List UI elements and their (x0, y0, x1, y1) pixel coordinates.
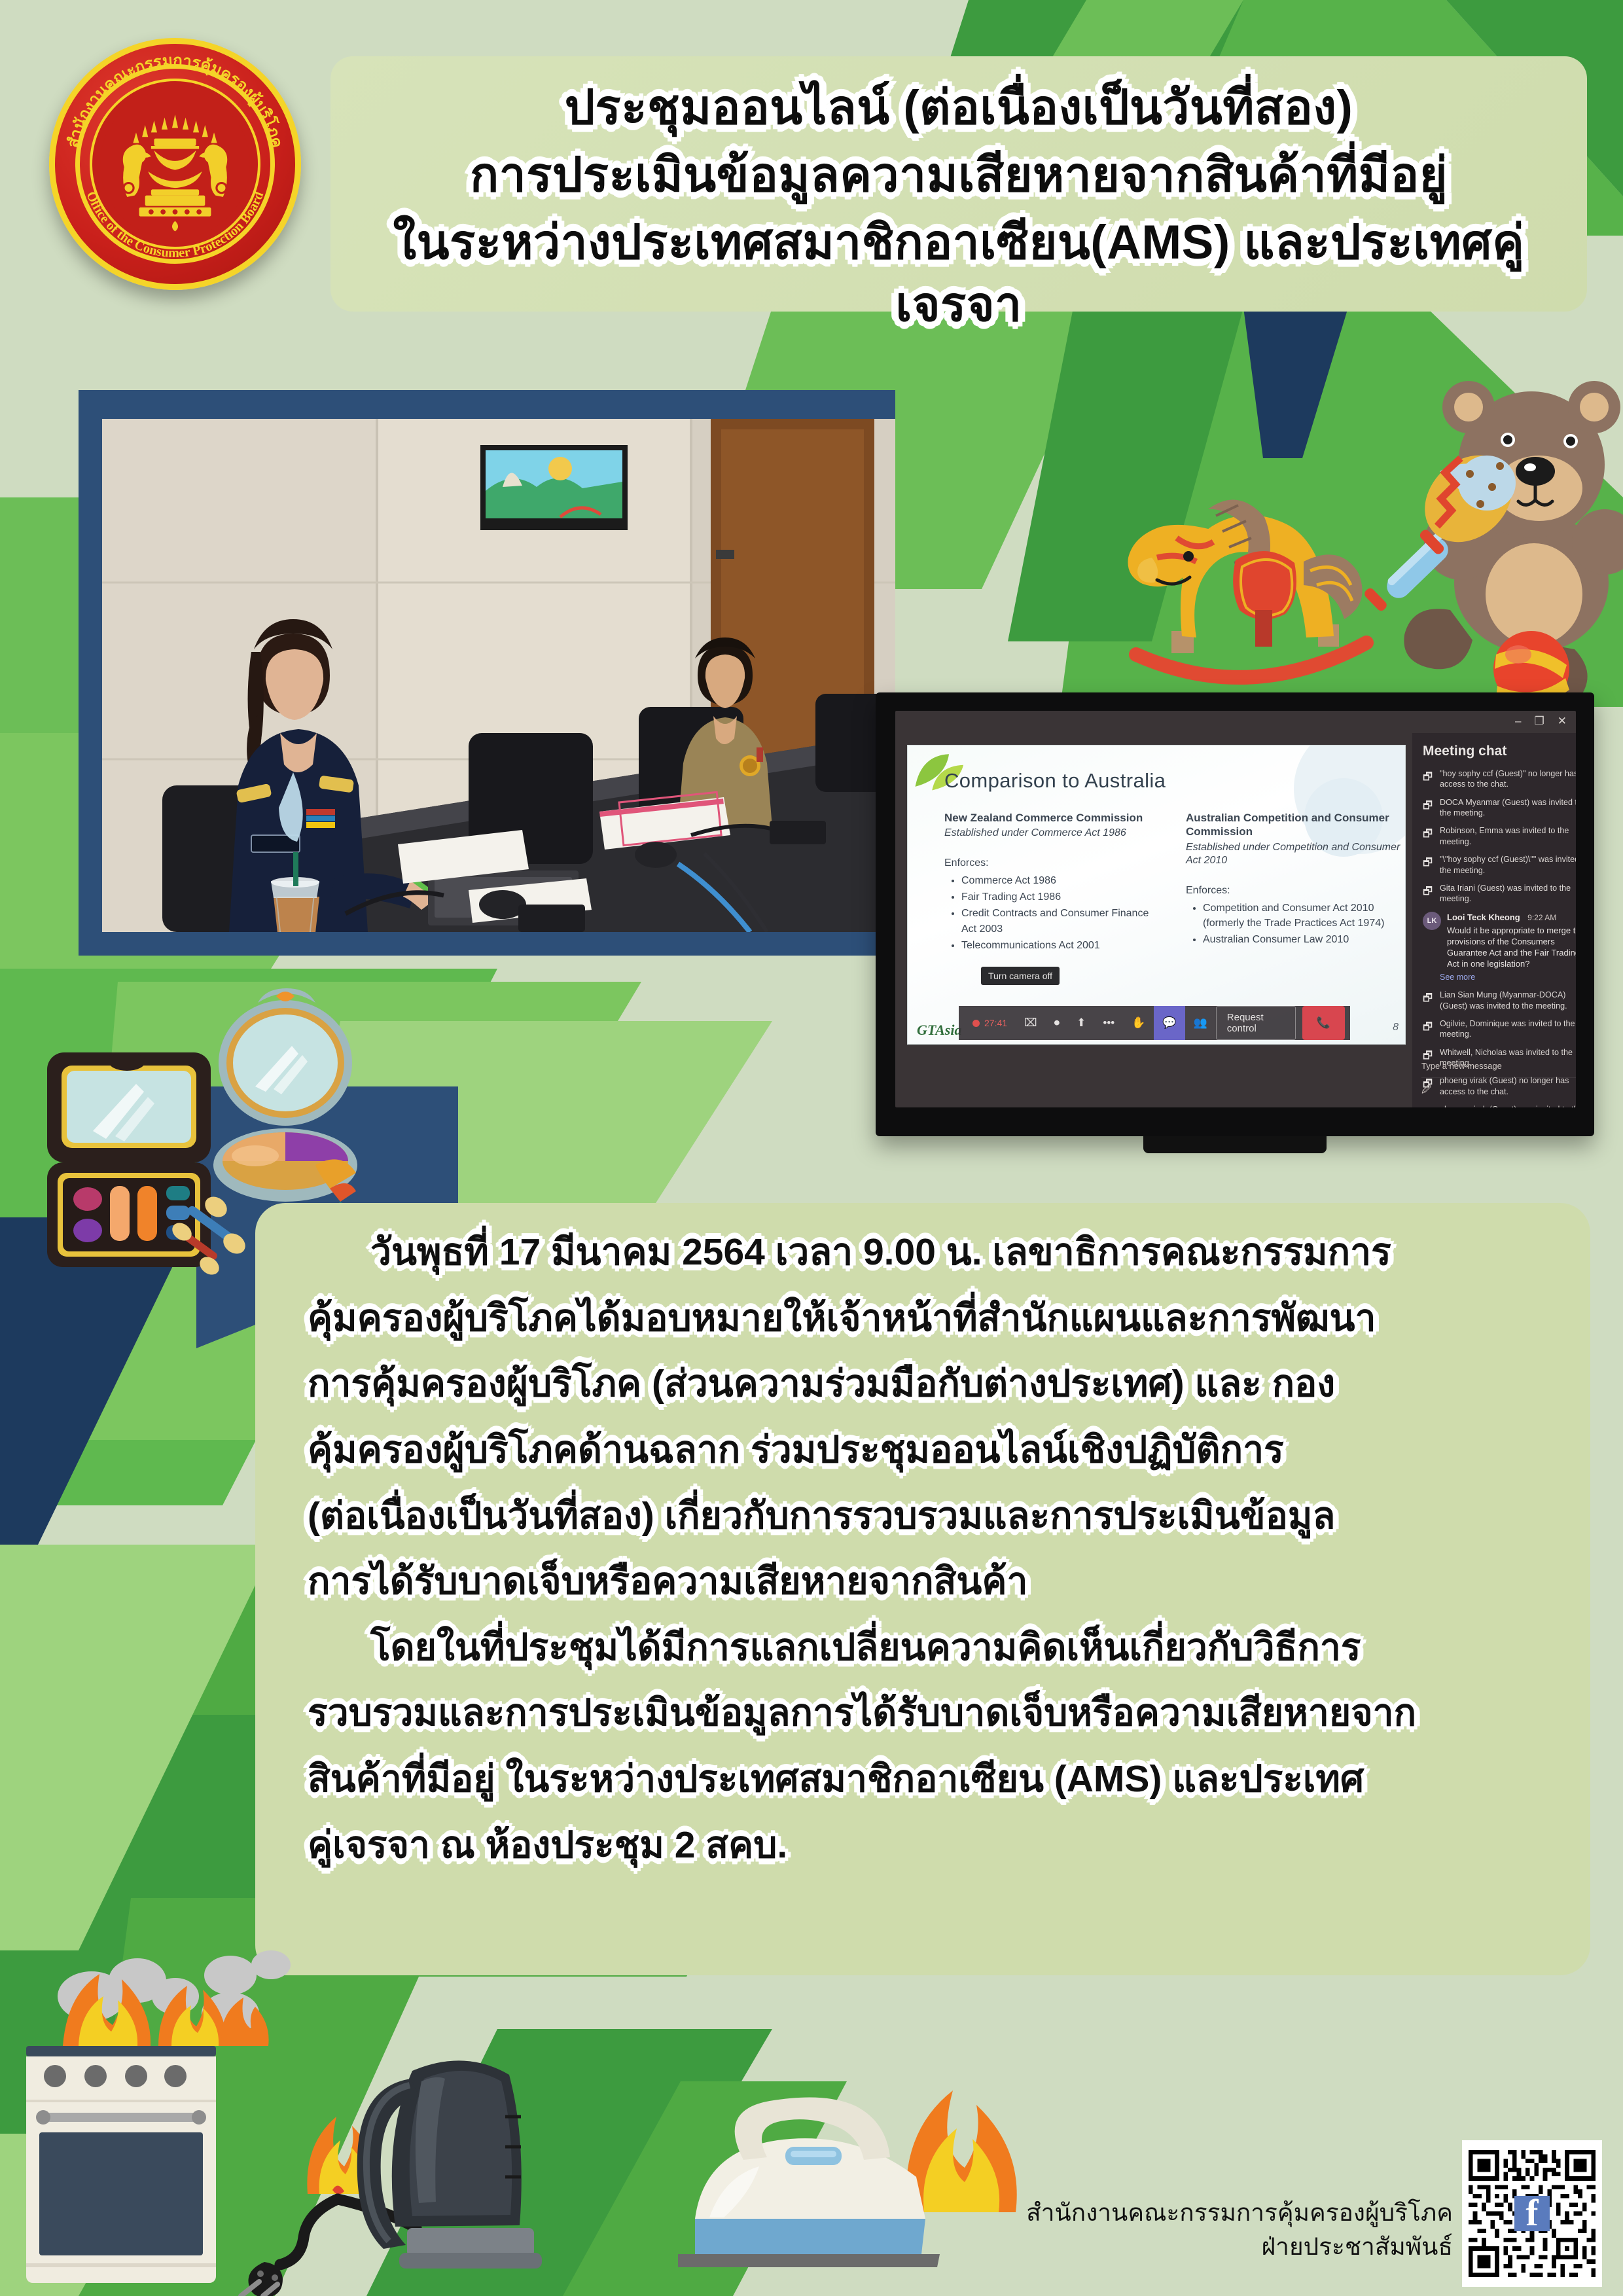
hang-up-icon[interactable]: 📞 (1302, 1006, 1345, 1040)
chat-avatar: LK (1423, 912, 1441, 930)
body-line: โดยในที่ประชุมได้มีการแลกเปลี่ยนความคิดเ… (308, 1619, 1551, 1676)
body-line: การคุ้มครองผู้บริโภค (ส่วนความร่วมมือกับ… (308, 1355, 1551, 1412)
slide-title: Comparison to Australia (944, 769, 1405, 793)
burning-plug-icon (241, 2117, 416, 2296)
invite-icon: 🗗 (1423, 1020, 1434, 1040)
au-subheading: Established under Competition and Consum… (1186, 841, 1405, 869)
au-act-item: Competition and Consumer Act 2010 (forme… (1203, 901, 1405, 931)
chat-system-message: 🗗 Lian Sian Mung (Myanmar-DOCA) (Guest) … (1423, 990, 1576, 1011)
body-line: การได้รับบาดเจ็บหรือความเสียหายจากสินค้า (308, 1553, 1551, 1610)
invite-icon: 🗗 (1423, 827, 1434, 847)
chat-system-message: 🗗 DOCA Myanmar (Guest) was invited to th… (1423, 797, 1576, 819)
invite-icon: 🗗 (1423, 1105, 1434, 1107)
au-enforces-label: Enforces: (1186, 885, 1405, 897)
chat-system-message: 🗗 Gita Iriani (Guest) was invited to the… (1423, 883, 1576, 905)
chat-system-message: 🗗 Ogilvie, Dominique was invited to the … (1423, 1018, 1576, 1040)
footer-line-2: ฝ่ายประชาสัมพันธ์ (1026, 2230, 1453, 2265)
chat-system-message: 🗗 "\"hoy sophy ccf (Guest)\"" was invite… (1423, 854, 1576, 876)
teams-app: – ❐ ✕ Comparison t (895, 711, 1576, 1107)
microphone-muted-icon[interactable]: ⏺ (1046, 1006, 1069, 1040)
invite-icon: 🗗 (1423, 884, 1434, 905)
chat-compose-area[interactable]: Type a new message 🖉 ➤ (1421, 1061, 1576, 1098)
nz-act-item: Credit Contracts and Consumer Finance Ac… (961, 906, 1164, 936)
record-dot-icon (972, 1020, 980, 1027)
iron-flames-icon (906, 2090, 1016, 2212)
invite-icon: 🗗 (1423, 770, 1434, 790)
nz-act-item: Telecommunications Act 2001 (961, 938, 1164, 953)
tv-stand (1143, 1136, 1327, 1153)
tv-monitor: – ❐ ✕ Comparison t (876, 692, 1594, 1136)
close-icon[interactable]: ✕ (1558, 715, 1567, 728)
burning-iron-icon (678, 2098, 940, 2267)
meeting-photo-frame (79, 390, 895, 956)
invite-icon: 🗗 (1423, 991, 1434, 1011)
chat-timestamp: 9:22 AM (1527, 913, 1556, 922)
burning-stove-icon (26, 2046, 216, 2283)
raise-hand-icon[interactable]: ✋ (1123, 1006, 1154, 1040)
nz-act-item: Commerce Act 1986 (961, 873, 1164, 888)
page-title: ประชุมออนไลน์ (ต่อเนื่องเป็นวันที่สอง) ก… (330, 72, 1587, 342)
chat-input[interactable]: Type a new message (1421, 1061, 1576, 1077)
au-act-item: Australian Consumer Law 2010 (1203, 932, 1405, 947)
title-line-3: ในระหว่างประเทศสมาชิกอาเซียน(AMS) และประ… (330, 212, 1587, 336)
window-controls[interactable]: – ❐ ✕ (1515, 715, 1567, 728)
chat-system-message: 🗗 Robinson, Emma was invited to the meet… (1423, 825, 1576, 847)
ocpb-seal-logo: สำนักงานคณะกรรมการคุ้มครองผู้บริโภค Offi… (49, 38, 301, 290)
format-icon[interactable]: 🖉 (1421, 1083, 1431, 1098)
chat-system-message: 🗗 "hoy sophy ccf (Guest)" no longer has … (1423, 768, 1576, 790)
title-line-2: การประเมินข้อมูลความเสียหายจากสินค้าที่ม… (330, 145, 1587, 207)
toys-illustration (1073, 367, 1623, 707)
nz-act-item: Fair Trading Act 1986 (961, 889, 1164, 905)
participants-icon[interactable]: 👥 (1185, 1006, 1216, 1040)
rocking-horse-icon (1128, 500, 1366, 677)
chat-system-message: 🗗 phoeng virak (Guest) was invited to th… (1423, 1104, 1576, 1107)
nz-enforces-label: Enforces: (944, 857, 1164, 869)
camera-tooltip: Turn camera off (981, 967, 1060, 985)
more-options-icon[interactable]: ••• (1094, 1006, 1123, 1040)
facebook-qr-code[interactable]: f (1462, 2140, 1602, 2287)
title-line-1: ประชุมออนไลน์ (ต่อเนื่องเป็นวันที่สอง) (330, 77, 1587, 139)
au-acts-list: Competition and Consumer Act 2010 (forme… (1186, 901, 1405, 948)
presentation-slide: Comparison to Australia New Zealand Comm… (907, 745, 1406, 1045)
facebook-glyph: f (1525, 2193, 1539, 2234)
au-heading: Australian Competition and Consumer Comm… (1186, 811, 1405, 839)
body-line: วันพุธที่ 17 มีนาคม 2564 เวลา 9.00 น. เล… (308, 1224, 1551, 1281)
chat-author: Looi Teck Kheong (1447, 912, 1520, 922)
body-line: (ต่อเนื่องเป็นวันที่สอง) เกี่ยวกับการรวบ… (308, 1488, 1551, 1545)
footer-line-1: สำนักงานคณะกรรมการคุ้มครองผู้บริโภค (1026, 2196, 1453, 2231)
body-line: คุ้มครองผู้บริโภคด้านฉลาก ร่วมประชุมออนไ… (308, 1422, 1551, 1479)
slide-page-number: 8 (1393, 1022, 1399, 1033)
recording-timer: 27:41 (964, 1006, 1016, 1040)
invite-icon: 🗗 (1423, 855, 1434, 876)
slide-column-au: Australian Competition and Consumer Comm… (1186, 811, 1405, 954)
chat-body: Would it be appropriate to merge the pro… (1447, 925, 1576, 970)
maximize-icon[interactable]: ❐ (1535, 715, 1544, 728)
seal-emblem-graphic (100, 89, 250, 239)
invite-icon: 🗗 (1423, 798, 1434, 819)
body-line: คุ้มครองผู้บริโภคได้มอบหมายให้เจ้าหน้าที… (308, 1290, 1551, 1347)
nz-acts-list: Commerce Act 1986 Fair Trading Act 1986 … (944, 873, 1164, 953)
chat-icon[interactable]: 💬 (1154, 1006, 1185, 1040)
chat-title: Meeting chat (1423, 744, 1576, 759)
poster-page: สำนักงานคณะกรรมการคุ้มครองผู้บริโภค Offi… (0, 0, 1623, 2296)
share-screen-icon[interactable]: ⬆ (1068, 1006, 1094, 1040)
minimize-icon[interactable]: – (1515, 715, 1521, 728)
slide-column-nz: New Zealand Commerce Commission Establis… (944, 811, 1164, 954)
body-text: วันพุธที่ 17 มีนาคม 2564 เวลา 9.00 น. เล… (308, 1224, 1551, 1882)
meeting-photo (102, 419, 895, 932)
chat-user-message[interactable]: LK Looi Teck Kheong 9:22 AM Would it be … (1423, 912, 1576, 970)
electric-kettle-icon (357, 2060, 542, 2269)
gtasia-brand: GTAsia (917, 1022, 961, 1039)
request-control-button[interactable]: Request control (1216, 1006, 1296, 1040)
footer-credit: สำนักงานคณะกรรมการคุ้มครองผู้บริโภค ฝ่าย… (1026, 2196, 1453, 2265)
see-more-link[interactable]: See more (1440, 973, 1576, 982)
nz-subheading: Established under Commerce Act 1986 (944, 827, 1164, 840)
teams-meeting-screen: – ❐ ✕ Comparison t (895, 711, 1576, 1107)
body-line: สินค้าที่มีอยู่ ในระหว่างประเทศสมาชิกอาเ… (308, 1751, 1551, 1808)
appliances-illustration (0, 1950, 1060, 2296)
meeting-control-bar[interactable]: 27:41 ⌧ ⏺ ⬆ ••• ✋ 💬 👥 Request control (959, 1006, 1350, 1040)
meeting-stage: Comparison to Australia New Zealand Comm… (895, 733, 1412, 1107)
camera-off-icon[interactable]: ⌧ (1016, 1006, 1046, 1040)
nz-heading: New Zealand Commerce Commission (944, 811, 1164, 825)
body-line: รวบรวมและการประเมินข้อมูลการได้รับบาดเจ็… (308, 1685, 1551, 1742)
meeting-chat-panel: ✕ Meeting chat 🗗 "hoy sophy ccf (Guest)"… (1412, 733, 1576, 1107)
body-line: คู่เจรจา ณ ห้องประชุม 2 สคบ. (308, 1817, 1551, 1874)
